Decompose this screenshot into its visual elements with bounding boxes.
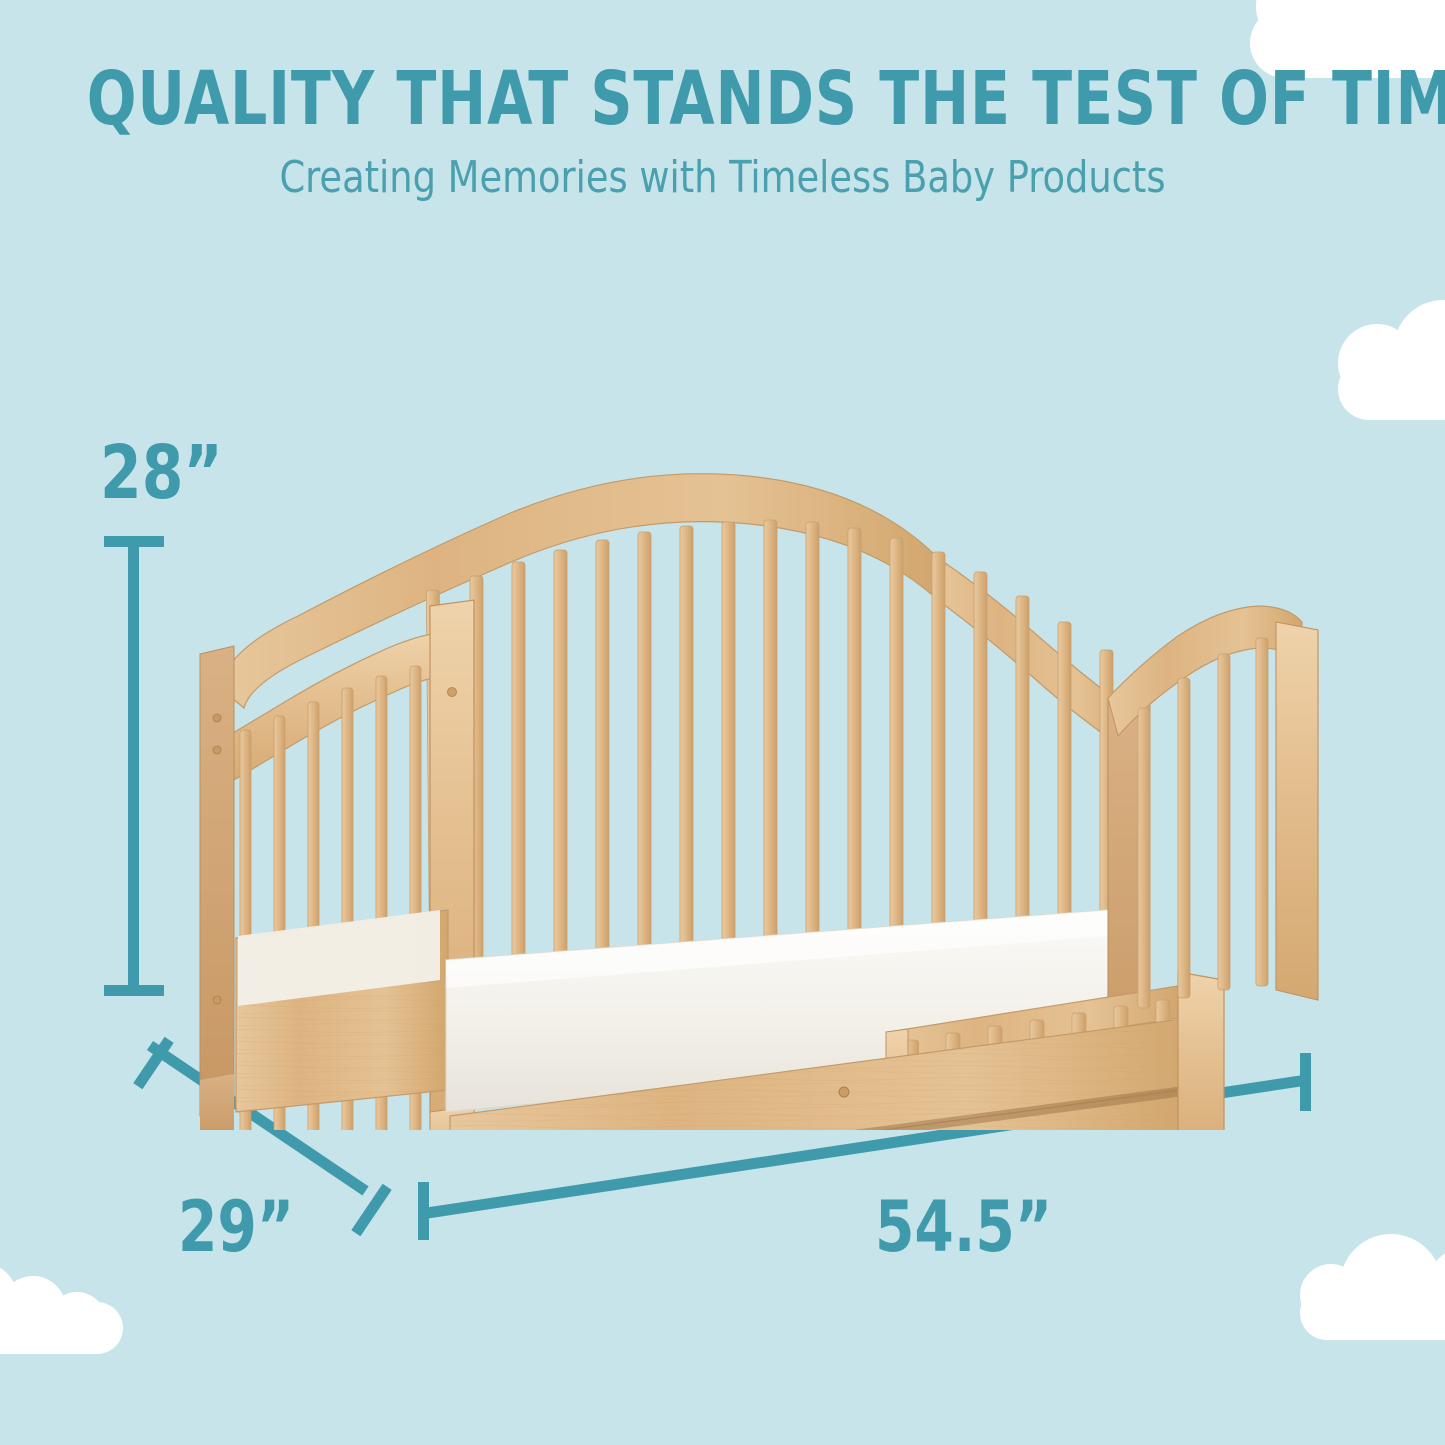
page-title: QUALITY THAT STANDS THE TEST OF TIME [87,60,1359,138]
infographic-canvas: QUALITY THAT STANDS THE TEST OF TIME Cre… [0,0,1445,1445]
dimension-label-width: 54.5” [875,1186,1052,1268]
cloud-right-edge-icon [1338,300,1445,425]
right-arm-rail [1108,606,1318,1008]
dimension-line-height [128,536,139,996]
product-image-toddler-bed [178,440,1328,1130]
dimension-label-depth: 29” [178,1186,294,1268]
cloud-bottom-right-icon [1300,1238,1445,1348]
dimension-cap-height-bottom [104,985,164,996]
headboard [220,474,1138,980]
cloud-bottom-left-icon [0,1258,123,1358]
header: QUALITY THAT STANDS THE TEST OF TIME Cre… [0,60,1445,204]
page-subtitle: Creating Memories with Timeless Baby Pro… [51,152,1395,204]
